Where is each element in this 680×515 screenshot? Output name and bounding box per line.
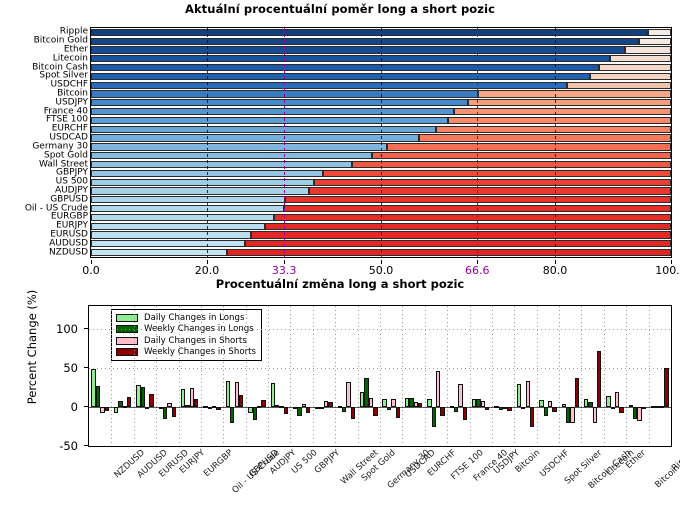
- bottom-chart-bar: [517, 384, 521, 407]
- bottom-chart-bar: [163, 407, 167, 419]
- short-bar-segment: [419, 134, 671, 141]
- bottom-chart-bar: [481, 401, 485, 407]
- long-bar-segment: [91, 64, 599, 71]
- bottom-chart-bar: [539, 400, 543, 407]
- top-chart-y-tick-label: NZDUSD: [49, 248, 88, 257]
- long-bar-segment: [91, 108, 454, 115]
- long-bar-segment: [91, 143, 387, 150]
- top-chart-gridline: [477, 28, 478, 257]
- bottom-chart-gridline: [581, 306, 582, 446]
- bottom-chart-bar: [284, 407, 288, 414]
- short-bar-segment: [478, 90, 671, 97]
- long-bar-segment: [91, 117, 448, 124]
- short-bar-segment: [314, 179, 671, 186]
- bottom-chart-gridline: [89, 446, 671, 447]
- legend-item: Daily Changes in Longs: [116, 312, 256, 324]
- top-chart-y-axis-labels: RippleBitcoin GoldEtherLitecoinBitcoin C…: [0, 27, 88, 258]
- bottom-chart-bar: [127, 397, 131, 407]
- bottom-chart-bar: [149, 394, 153, 407]
- bottom-chart-bar: [167, 403, 171, 407]
- bottom-chart-gridline: [111, 306, 112, 446]
- bottom-chart-bar: [575, 378, 579, 408]
- bottom-chart-bar: [351, 407, 355, 419]
- short-bar-segment: [625, 46, 671, 53]
- long-bar-segment: [91, 214, 274, 221]
- figure-root: Aktuální procentuální poměr long a short…: [0, 0, 680, 515]
- bottom-chart-gridline: [313, 306, 314, 446]
- top-chart-gridline: [207, 28, 208, 257]
- legend-label: Daily Changes in Longs: [144, 313, 244, 323]
- bottom-chart-gridline: [492, 306, 493, 446]
- long-bar-segment: [91, 152, 372, 159]
- bottom-chart-bar: [216, 407, 220, 410]
- long-bar-segment: [91, 231, 251, 238]
- bottom-chart-bar: [629, 405, 633, 407]
- bottom-chart-bar: [261, 400, 265, 407]
- bottom-chart-bar: [454, 407, 458, 412]
- bottom-chart-bar: [611, 407, 615, 409]
- bottom-chart-gridline: [134, 306, 135, 446]
- bottom-chart-bar: [226, 381, 230, 407]
- bottom-chart-bar: [544, 407, 548, 416]
- bottom-chart-bar: [562, 404, 566, 407]
- short-bar-segment: [436, 126, 671, 133]
- bottom-chart-bar: [96, 386, 100, 407]
- bottom-chart-y-tick: [84, 367, 88, 368]
- bottom-chart-bar: [338, 406, 342, 408]
- bottom-chart-gridline: [402, 306, 403, 446]
- top-chart-x-tick-label: 100.0: [655, 264, 680, 277]
- bottom-chart-gridline: [290, 306, 291, 446]
- short-bar-segment: [274, 214, 671, 221]
- bottom-chart-gridline: [246, 306, 247, 446]
- bottom-chart-bar: [382, 399, 386, 407]
- bottom-chart-bar: [212, 406, 216, 408]
- long-bar-segment: [91, 73, 590, 80]
- top-chart-x-tick-label: 80.0: [543, 264, 568, 277]
- short-bar-segment: [265, 223, 671, 230]
- bottom-chart-bar: [485, 407, 489, 410]
- long-bar-segment: [91, 240, 245, 247]
- short-bar-segment: [372, 152, 671, 159]
- bottom-chart-bar: [279, 406, 283, 408]
- legend-item: Weekly Changes in Shorts: [116, 347, 256, 359]
- bottom-chart-bar: [105, 407, 109, 411]
- bottom-chart-bar: [463, 407, 467, 419]
- long-bar-segment: [91, 205, 284, 212]
- long-bar-segment: [91, 126, 436, 133]
- top-chart-gridline: [284, 28, 285, 257]
- long-bar-segment: [91, 55, 610, 62]
- bottom-chart-bar: [530, 407, 534, 427]
- long-bar-segment: [91, 161, 352, 168]
- bottom-chart-y-tick-label: 50: [63, 361, 78, 375]
- bottom-chart-x-tick-label: EURGBP: [202, 448, 235, 479]
- bottom-chart-y-tick-label: 0: [71, 400, 78, 414]
- top-chart-x-tick-label: 33.3: [272, 264, 297, 277]
- bottom-chart-x-axis-labels: NZDUSDAUDUSDEURUSDEURJPYEURGBPOil - US C…: [0, 448, 680, 515]
- bottom-chart-bar: [458, 384, 462, 407]
- bottom-chart-bar: [239, 395, 243, 407]
- long-bar-segment: [91, 46, 625, 53]
- short-bar-segment: [639, 38, 671, 45]
- bottom-chart-gridline: [201, 306, 202, 446]
- bottom-chart-bar: [526, 381, 530, 407]
- bottom-chart-bar: [328, 402, 332, 407]
- legend-item: Daily Changes in Shorts: [116, 335, 256, 347]
- short-bar-segment: [454, 108, 672, 115]
- bottom-chart-gridline: [626, 306, 627, 446]
- bottom-chart-y-tick: [84, 445, 88, 446]
- top-chart-x-tick-label: 20.0: [195, 264, 220, 277]
- short-bar-segment: [323, 170, 671, 177]
- bottom-chart-gridline: [447, 306, 448, 446]
- short-bar-segment: [599, 64, 672, 71]
- bottom-chart-plot-area: Daily Changes in LongsWeekly Changes in …: [88, 305, 672, 447]
- bottom-chart-bar: [440, 407, 444, 416]
- short-bar-segment: [567, 82, 671, 89]
- bottom-chart-bar: [664, 368, 668, 407]
- bottom-chart-y-axis-labels: 100500-50: [0, 305, 84, 447]
- bottom-chart-bar: [507, 407, 511, 411]
- bottom-chart-bar: [427, 399, 431, 407]
- bottom-chart-bar: [346, 382, 350, 407]
- bottom-chart-bar: [521, 407, 525, 409]
- bottom-chart-bar: [172, 407, 176, 417]
- bottom-chart-bar: [588, 402, 592, 407]
- bottom-chart-bar: [145, 407, 149, 409]
- bottom-chart-gridline: [380, 306, 381, 446]
- top-chart-x-axis-title: Procentuální změna long a short pozic: [0, 277, 680, 291]
- bottom-chart-bar: [114, 407, 118, 413]
- bottom-chart-bar: [230, 407, 234, 423]
- bottom-chart-bar: [619, 407, 623, 412]
- bottom-chart-bar: [141, 387, 145, 407]
- bottom-chart-gridline: [156, 306, 157, 446]
- bottom-chart-bar: [432, 407, 436, 427]
- top-chart-x-tick-label: 66.6: [465, 264, 490, 277]
- short-bar-segment: [251, 231, 672, 238]
- bottom-chart-gridline: [559, 306, 560, 446]
- bottom-chart-gridline: [537, 306, 538, 446]
- long-bar-segment: [91, 82, 567, 89]
- bottom-chart-gridline: [604, 306, 605, 446]
- bottom-chart-bar: [342, 407, 346, 412]
- bottom-chart-bar: [597, 351, 601, 407]
- long-bar-segment: [91, 38, 639, 45]
- long-bar-segment: [91, 179, 314, 186]
- long-bar-segment: [91, 187, 309, 194]
- bottom-chart-bar: [570, 407, 574, 423]
- long-bar-segment: [91, 29, 648, 36]
- bottom-chart-bar: [306, 407, 310, 413]
- bottom-chart-gridline: [223, 306, 224, 446]
- bottom-chart-gridline: [425, 306, 426, 446]
- long-bar-segment: [91, 99, 468, 106]
- bottom-chart-bar: [606, 396, 610, 407]
- top-chart-title: Aktuální procentuální poměr long a short…: [0, 2, 680, 16]
- bottom-chart-bar: [552, 407, 556, 412]
- top-chart-x-tick-label: 0.0: [82, 264, 100, 277]
- long-bar-segment: [91, 134, 419, 141]
- bottom-chart-bar: [548, 401, 552, 407]
- bottom-chart-bar: [450, 406, 454, 408]
- bottom-chart-y-tick: [84, 328, 88, 329]
- bottom-chart-bar: [373, 407, 377, 416]
- bottom-chart-bar: [391, 399, 395, 407]
- bottom-chart-bar: [271, 383, 275, 407]
- bottom-chart-bar: [320, 407, 324, 409]
- short-bar-segment: [648, 29, 671, 36]
- top-chart-x-axis-labels: 0.020.033.350.066.680.0100.0: [0, 260, 680, 278]
- short-bar-segment: [387, 143, 671, 150]
- bottom-chart-bar: [642, 407, 646, 409]
- bottom-chart-bar: [418, 403, 422, 407]
- short-bar-segment: [352, 161, 671, 168]
- top-chart: Aktuální procentuální poměr long a short…: [0, 0, 680, 300]
- bottom-chart-bar: [302, 404, 306, 407]
- top-chart-gridline: [381, 28, 382, 257]
- bottom-chart-bar: [253, 407, 257, 420]
- bottom-chart: Percent Change (%) 100500-50 Daily Chang…: [0, 296, 680, 515]
- short-bar-segment: [590, 73, 671, 80]
- bottom-chart-gridline: [358, 306, 359, 446]
- short-bar-segment: [245, 240, 671, 247]
- short-bar-segment: [227, 249, 671, 256]
- top-chart-plot-area: [90, 27, 672, 258]
- top-chart-x-tick-label: 50.0: [369, 264, 394, 277]
- bottom-chart-gridline: [649, 306, 650, 446]
- top-chart-gridline: [555, 28, 556, 257]
- bottom-chart-bar: [593, 407, 597, 423]
- bottom-chart-bar: [194, 399, 198, 407]
- bottom-chart-bar: [494, 406, 498, 408]
- bottom-chart-gridline: [514, 306, 515, 446]
- bottom-chart-bar: [396, 407, 400, 418]
- bottom-chart-y-tick-label: 100: [56, 322, 78, 336]
- short-bar-segment: [309, 187, 672, 194]
- long-bar-segment: [91, 196, 285, 203]
- bottom-chart-gridline: [470, 306, 471, 446]
- short-bar-segment: [468, 99, 671, 106]
- long-bar-segment: [91, 223, 265, 230]
- bottom-chart-bar: [436, 371, 440, 407]
- bottom-chart-bar: [387, 407, 391, 410]
- bottom-chart-bar: [615, 392, 619, 407]
- bottom-chart-bar: [369, 398, 373, 407]
- bottom-chart-bar: [297, 407, 301, 416]
- bottom-chart-gridline: [268, 306, 269, 446]
- short-bar-segment: [610, 55, 671, 62]
- bottom-chart-y-tick: [84, 406, 88, 407]
- legend-label: Daily Changes in Shorts: [144, 336, 247, 346]
- bottom-chart-gridline: [335, 306, 336, 446]
- short-bar-segment: [448, 117, 671, 124]
- bottom-chart-gridline: [179, 306, 180, 446]
